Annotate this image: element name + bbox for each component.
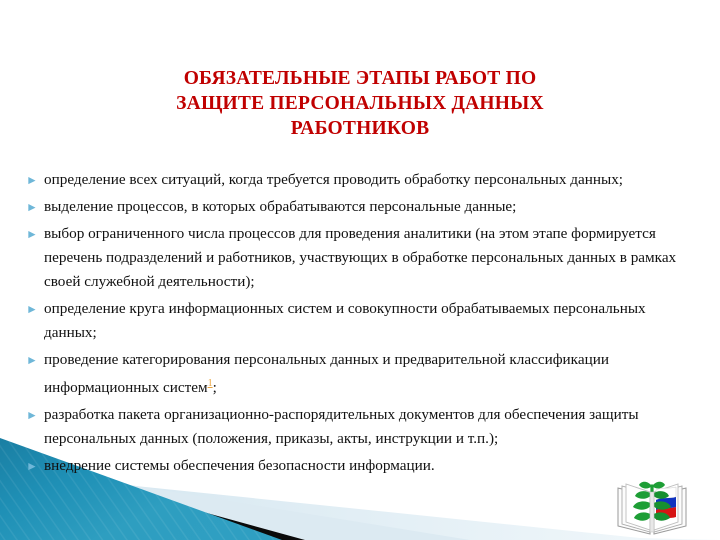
union-emblem-logo — [612, 476, 692, 538]
list-item-text: определение круга информационных систем … — [44, 297, 700, 345]
list-item: ► выбор ограниченного числа процессов дл… — [22, 222, 700, 294]
title-line-1: ОБЯЗАТЕЛЬНЫЕ ЭТАПЫ РАБОТ ПО — [110, 66, 610, 91]
list-item: ► определение всех ситуаций, когда требу… — [22, 168, 700, 192]
list-item-text: определение всех ситуаций, когда требует… — [44, 168, 700, 192]
list-item-text: разработка пакета организационно-распоря… — [44, 403, 700, 451]
list-item: ► внедрение системы обеспечения безопасн… — [22, 454, 700, 478]
list-item-text: внедрение системы обеспечения безопаснос… — [44, 454, 700, 478]
triangle-bullet-icon: ► — [22, 403, 44, 427]
list-item: ► разработка пакета организационно-распо… — [22, 403, 700, 451]
title-line-2: ЗАЩИТЕ ПЕРСОНАЛЬНЫХ ДАННЫХ — [110, 91, 610, 116]
triangle-bullet-icon: ► — [22, 454, 44, 478]
triangle-bullet-icon: ► — [22, 195, 44, 219]
list-item-text: проведение категорирования персональных … — [44, 348, 700, 400]
triangle-bullet-icon: ► — [22, 348, 44, 372]
list-item-text-body: проведение категорирования персональных … — [44, 351, 609, 396]
book-spine — [650, 492, 654, 532]
slide: ОБЯЗАТЕЛЬНЫЕ ЭТАПЫ РАБОТ ПО ЗАЩИТЕ ПЕРСО… — [0, 0, 720, 540]
list-item: ► проведение категорирования персональны… — [22, 348, 700, 400]
triangle-bullet-icon: ► — [22, 168, 44, 192]
list-item-text: выбор ограниченного числа процессов для … — [44, 222, 700, 294]
list-item-text: выделение процессов, в которых обрабатыв… — [44, 195, 700, 219]
triangle-bullet-icon: ► — [22, 222, 44, 246]
triangle-bullet-icon: ► — [22, 297, 44, 321]
title-line-3: РАБОТНИКОВ — [110, 116, 610, 141]
list-item: ► определение круга информационных систе… — [22, 297, 700, 345]
slide-title: ОБЯЗАТЕЛЬНЫЕ ЭТАПЫ РАБОТ ПО ЗАЩИТЕ ПЕРСО… — [110, 66, 610, 141]
list-item: ► выделение процессов, в которых обрабат… — [22, 195, 700, 219]
bullet-list: ► определение всех ситуаций, когда требу… — [22, 168, 700, 481]
list-item-text-suffix: ; — [213, 379, 217, 396]
